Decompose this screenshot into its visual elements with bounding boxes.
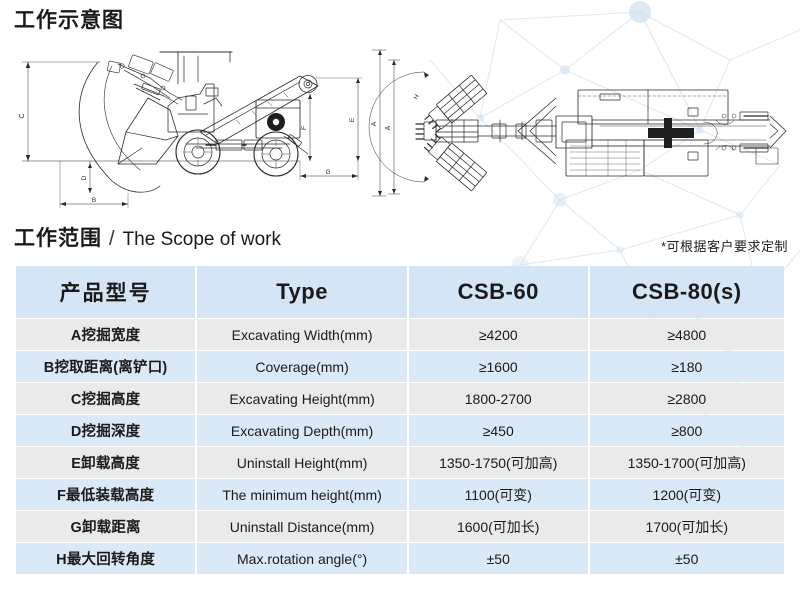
row-value-csb60: 1800-2700 xyxy=(409,383,588,414)
table-row: H最大回转角度 Max.rotation angle(°) ±50 ±50 xyxy=(16,543,784,574)
specification-table: 产品型号 Type CSB-60 CSB-80(s) A挖掘宽度 Excavat… xyxy=(14,265,786,575)
column-header-type: Type xyxy=(197,266,407,318)
column-header-model: 产品型号 xyxy=(16,266,195,318)
scope-title-en: The Scope of work xyxy=(123,229,281,251)
column-header-csb60: CSB-60 xyxy=(409,266,588,318)
scope-title-separator: / xyxy=(109,228,116,251)
table-row: A挖掘宽度 Excavating Width(mm) ≥4200 ≥4800 xyxy=(16,319,784,350)
table-body: A挖掘宽度 Excavating Width(mm) ≥4200 ≥4800 B… xyxy=(16,319,784,574)
row-type: Max.rotation angle(°) xyxy=(197,543,407,574)
row-label: D挖掘深度 xyxy=(16,415,195,446)
table-row: F最低装载高度 The minimum height(mm) 1100(可变) … xyxy=(16,479,784,510)
svg-text:F: F xyxy=(301,126,308,130)
row-type: Excavating Depth(mm) xyxy=(197,415,407,446)
table-header-row: 产品型号 Type CSB-60 CSB-80(s) xyxy=(16,266,784,318)
row-type: Excavating Height(mm) xyxy=(197,383,407,414)
row-label: F最低装载高度 xyxy=(16,479,195,510)
svg-text:C: C xyxy=(19,113,26,118)
row-value-csb60: 1350-1750(可加高) xyxy=(409,447,588,478)
row-label: C挖掘高度 xyxy=(16,383,195,414)
row-value-csb60: 1600(可加长) xyxy=(409,511,588,542)
row-label: G卸载距离 xyxy=(16,511,195,542)
row-label: A挖掘宽度 xyxy=(16,319,195,350)
row-type: The minimum height(mm) xyxy=(197,479,407,510)
svg-text:D: D xyxy=(81,175,88,180)
svg-text:E: E xyxy=(349,117,356,122)
row-type: Excavating Width(mm) xyxy=(197,319,407,350)
customization-note: *可根据客户要求定制 xyxy=(661,236,788,255)
row-value-csb80s: ±50 xyxy=(590,543,784,574)
row-value-csb80s: ≥4800 xyxy=(590,319,784,350)
svg-text:A: A xyxy=(371,121,378,126)
svg-text:A: A xyxy=(385,125,392,130)
row-value-csb80s: 1350-1700(可加高) xyxy=(590,447,784,478)
row-value-csb80s: ≥180 xyxy=(590,351,784,382)
row-value-csb60: 1100(可变) xyxy=(409,479,588,510)
row-value-csb80s: 1200(可变) xyxy=(590,479,784,510)
row-value-csb60: ≥450 xyxy=(409,415,588,446)
table-header: 产品型号 Type CSB-60 CSB-80(s) xyxy=(16,266,784,318)
row-value-csb60: ±50 xyxy=(409,543,588,574)
page-root: 工作示意图 C xyxy=(0,0,800,610)
table-row: D挖掘深度 Excavating Depth(mm) ≥450 ≥800 xyxy=(16,415,784,446)
row-label: E卸载高度 xyxy=(16,447,195,478)
row-label: B挖取距离(离铲口) xyxy=(16,351,195,382)
table-row: C挖掘高度 Excavating Height(mm) 1800-2700 ≥2… xyxy=(16,383,784,414)
table-row: E卸载高度 Uninstall Height(mm) 1350-1750(可加高… xyxy=(16,447,784,478)
top-view-drawing: A H xyxy=(369,60,786,194)
page-title-scope: 工作范围 / The Scope of work xyxy=(14,222,281,252)
row-type: Coverage(mm) xyxy=(197,351,407,382)
row-value-csb60: ≥1600 xyxy=(409,351,588,382)
technical-drawings: C D B xyxy=(0,36,800,211)
row-value-csb60: ≥4200 xyxy=(409,319,588,350)
svg-text:B: B xyxy=(92,197,96,204)
scope-title-zh: 工作范围 xyxy=(14,222,102,252)
row-label: H最大回转角度 xyxy=(16,543,195,574)
row-type: Uninstall Height(mm) xyxy=(197,447,407,478)
drawing-svg: C D B xyxy=(0,36,800,211)
table-row: G卸载距离 Uninstall Distance(mm) 1600(可加长) 1… xyxy=(16,511,784,542)
table-row: B挖取距离(离铲口) Coverage(mm) ≥1600 ≥180 xyxy=(16,351,784,382)
row-value-csb80s: 1700(可加长) xyxy=(590,511,784,542)
row-value-csb80s: ≥800 xyxy=(590,415,784,446)
page-title-diagram: 工作示意图 xyxy=(14,4,124,34)
row-type: Uninstall Distance(mm) xyxy=(197,511,407,542)
svg-text:H: H xyxy=(412,93,421,101)
column-header-csb80s: CSB-80(s) xyxy=(590,266,784,318)
svg-text:G: G xyxy=(325,169,330,176)
row-value-csb80s: ≥2800 xyxy=(590,383,784,414)
side-view-drawing: C D B xyxy=(19,50,386,208)
